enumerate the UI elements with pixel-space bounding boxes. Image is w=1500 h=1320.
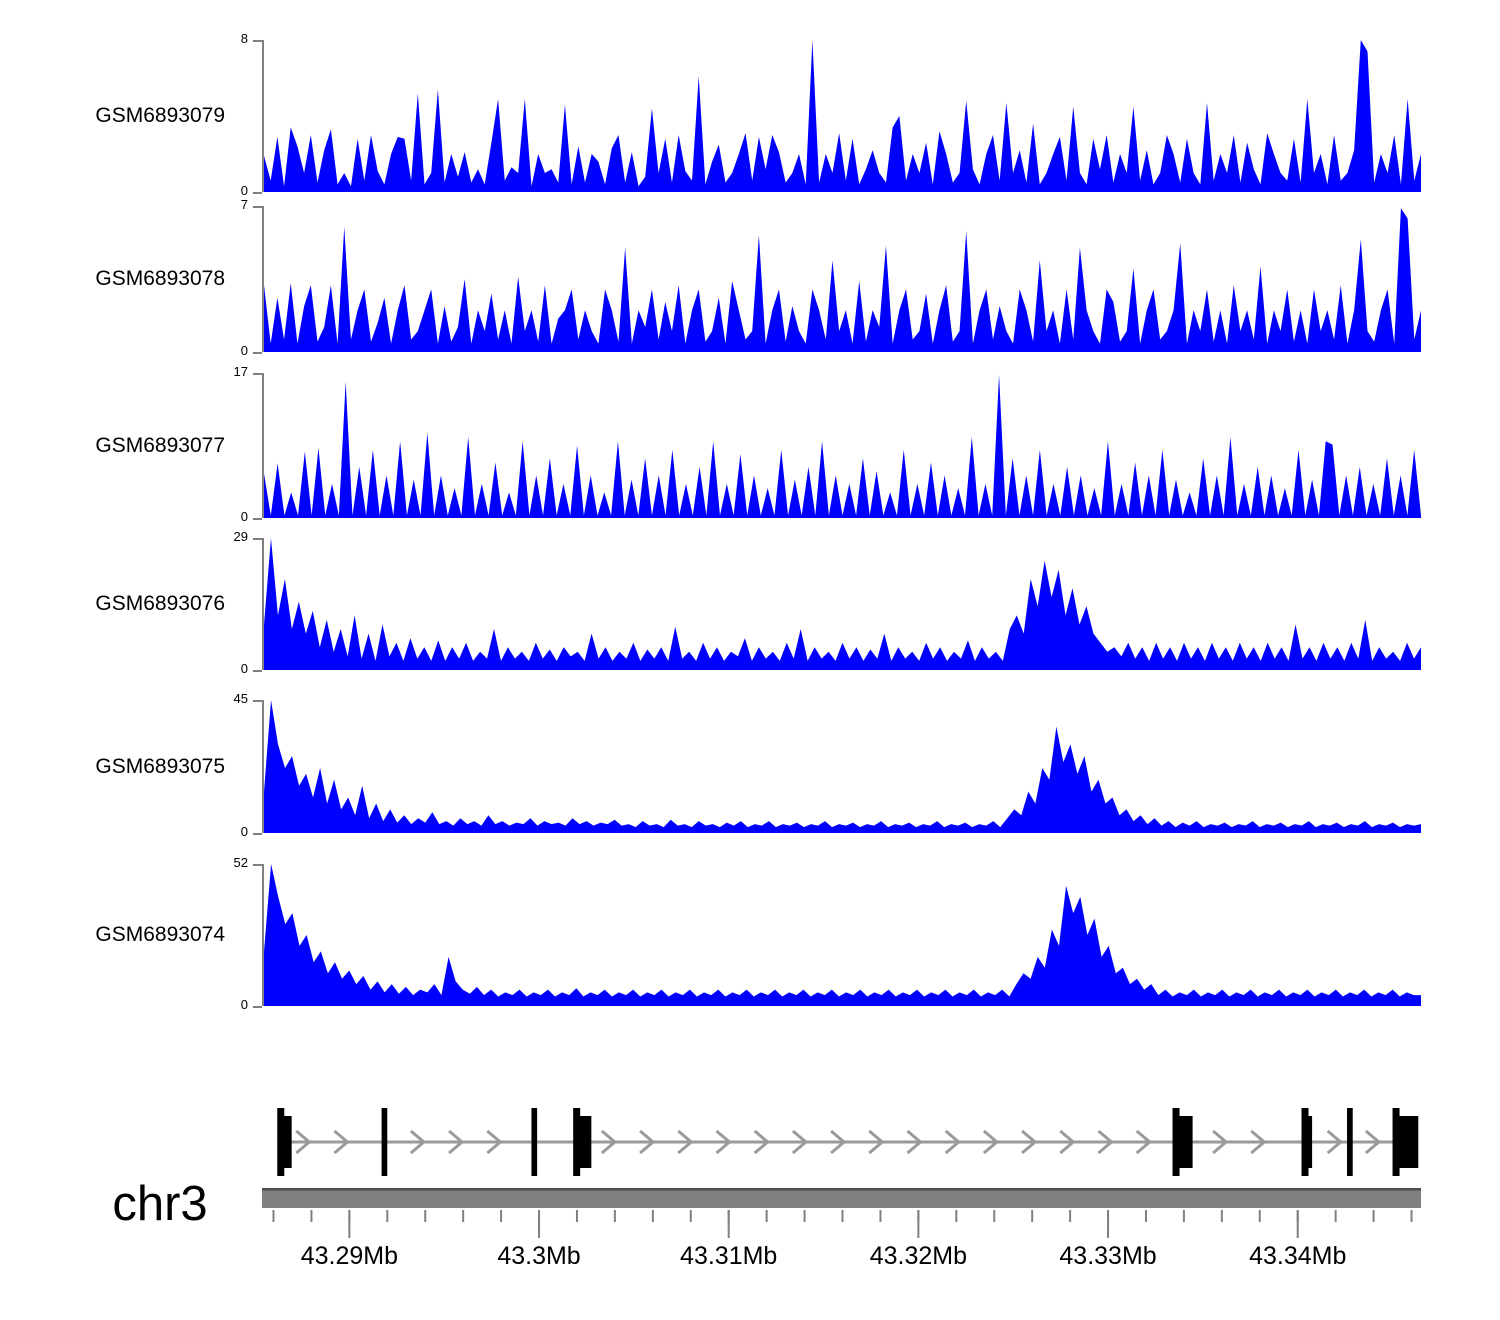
y-axis-max-label: 17 [208,364,248,379]
axis-tick-label: 43.32Mb [870,1242,967,1270]
track-label: GSM6893076 [0,592,225,616]
coverage-area [264,864,1421,1006]
coverage-track: GSM689307870 [0,184,1500,360]
coverage-track: GSM6893074520 [0,842,1500,1014]
coverage-area [264,538,1421,670]
y-axis-tick-max [253,700,262,702]
track-label: GSM6893079 [0,104,225,128]
y-axis-max-label: 45 [208,691,248,706]
y-axis-tick-min [253,670,262,672]
coverage-track: GSM6893076290 [0,516,1500,678]
coverage-area [264,40,1421,192]
axis-tick-label: 43.34Mb [1249,1242,1346,1270]
y-axis-max-label: 29 [208,529,248,544]
y-axis-max-label: 52 [208,855,248,870]
y-axis-min-label: 0 [208,824,248,839]
coverage-area [264,700,1421,833]
genome-axis: 43.29Mb43.3Mb43.31Mb43.32Mb43.33Mb43.34M… [0,1186,1500,1306]
track-label: GSM6893074 [0,923,225,947]
gene-model-track [0,1096,1500,1188]
y-axis-min-label: 0 [208,997,248,1012]
y-axis-tick-min [253,1006,262,1008]
y-axis-max-label: 8 [208,31,248,46]
axis-tick-label: 43.31Mb [680,1242,777,1270]
track-label: GSM6893077 [0,434,225,458]
y-axis-tick-max [253,373,262,375]
track-label: GSM6893078 [0,267,225,291]
axis-tick-label: 43.33Mb [1059,1242,1156,1270]
y-axis-tick-max [253,206,262,208]
y-axis-tick-max [253,40,262,42]
coverage-track: GSM6893075450 [0,678,1500,841]
coverage-track: GSM6893077170 [0,351,1500,526]
y-axis-max-label: 7 [208,197,248,212]
y-axis-tick-max [253,864,262,866]
axis-tick-label: 43.3Mb [497,1242,580,1270]
coverage-area [264,206,1421,352]
y-axis-min-label: 0 [208,661,248,676]
track-label: GSM6893075 [0,755,225,779]
y-axis-tick-max [253,538,262,540]
coverage-track: GSM689307980 [0,18,1500,200]
coverage-area [264,373,1421,518]
genome-browser-figure: GSM689307980GSM689307870GSM6893077170GSM… [0,0,1500,1320]
y-axis-tick-min [253,833,262,835]
axis-tick-label: 43.29Mb [301,1242,398,1270]
